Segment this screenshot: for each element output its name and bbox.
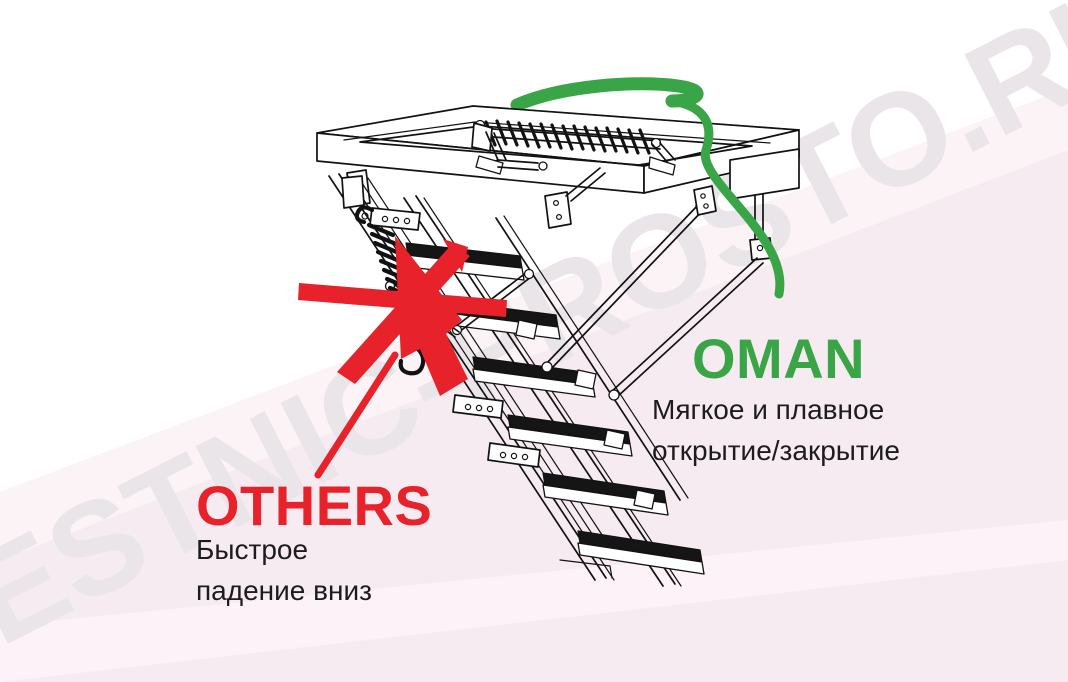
oman-title: OMAN [692,331,865,387]
callout-layer: OMAN Мягкое и плавное открытие/закрытие … [0,0,1068,682]
others-subtitle-line-1: Быстрое [196,536,308,564]
oman-subtitle-line-2: открытие/закрытие [652,437,900,465]
promo-banner: LESTNIC-PROSTO.RU .ln { fill:none; strok… [0,0,1068,682]
oman-subtitle-line-1: Мягкое и плавное [652,396,884,424]
others-subtitle-line-2: падение вниз [196,577,372,605]
others-title: OTHERS [196,478,432,534]
